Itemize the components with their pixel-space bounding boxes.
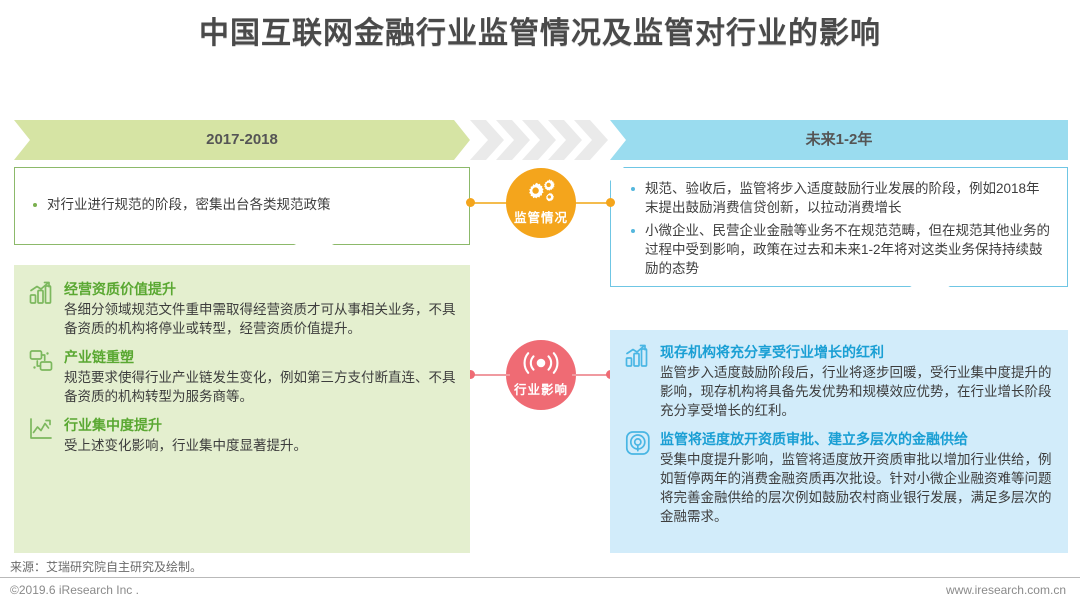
feature-body: 受上述变化影响，行业集中度显著提升。 xyxy=(64,436,458,455)
feature-block: 行业集中度提升 受上述变化影响，行业集中度显著提升。 xyxy=(18,415,458,455)
feature-block: 经营资质价值提升 各细分领域规范文件重申需取得经营资质才可从事相关业务，不具备资… xyxy=(18,279,458,338)
target-circle-icon xyxy=(624,430,652,456)
feature-body: 监管步入适度鼓励阶段后，行业将逐步回暖，受行业集中度提升的影响，现存机构将具备先… xyxy=(660,363,1054,420)
feature-block: 产业链重塑 规范要求使得行业产业链发生变化，例如第三方支付断直连、不具备资质的机… xyxy=(18,347,458,406)
connector-line-left-regulation xyxy=(470,202,510,204)
feature-block: 监管将适度放开资质审批、建立多层次的金融供给 受集中度提升影响，监管将适度放开资… xyxy=(614,429,1054,526)
feature-heading: 行业集中度提升 xyxy=(64,415,458,435)
chevron-right-icon xyxy=(470,120,504,160)
gears-icon xyxy=(506,179,576,205)
page-title: 中国互联网金融行业监管情况及监管对行业的影响 xyxy=(0,8,1080,52)
industry-impact-right-panel: 现存机构将充分享受行业增长的红利 监管步入适度鼓励阶段后，行业将逐步回暖，受行业… xyxy=(610,330,1068,553)
regulation-past-list: 对行业进行规范的阶段，密集出台各类规范政策 xyxy=(29,195,455,214)
badge-regulation[interactable]: 监管情况 xyxy=(506,168,576,238)
regulation-future-list: 规范、验收后，监管将步入适度鼓励行业发展的阶段，例如2018年末提出鼓励消费信贷… xyxy=(627,179,1051,278)
timeline-chevrons xyxy=(470,120,610,160)
connector-line-left-impact xyxy=(470,374,510,376)
badge-impact[interactable]: 行业影响 xyxy=(506,340,576,410)
supply-chain-icon xyxy=(28,348,56,374)
list-item: 规范、验收后，监管将步入适度鼓励行业发展的阶段，例如2018年末提出鼓励消费信贷… xyxy=(627,179,1051,217)
feature-body: 规范要求使得行业产业链发生变化，例如第三方支付断直连、不具备资质的机构转型为服务… xyxy=(64,368,458,406)
industry-impact-left-panel: 经营资质价值提升 各细分领域规范文件重申需取得经营资质才可从事相关业务，不具备资… xyxy=(14,265,470,553)
source-note: 来源：艾瑞研究院自主研究及绘制。 xyxy=(10,558,202,575)
timeline-banner-right: 未来1-2年 xyxy=(610,120,1068,160)
feature-block: 现存机构将充分享受行业增长的红利 监管步入适度鼓励阶段后，行业将逐步回暖，受行业… xyxy=(614,342,1054,420)
list-item: 小微企业、民营企业金融等业务不在规范范畴，但在规范其他业务的过程中受到影响，政策… xyxy=(627,221,1051,278)
badge-impact-label: 行业影响 xyxy=(506,379,576,398)
timeline-left-label: 2017-2018 xyxy=(206,131,278,148)
regulation-past-box: 对行业进行规范的阶段，密集出台各类规范政策 xyxy=(14,167,470,245)
footer-divider xyxy=(0,577,1080,578)
timeline-banner-left: 2017-2018 xyxy=(14,120,470,160)
list-item: 对行业进行规范的阶段，密集出台各类规范政策 xyxy=(29,195,455,214)
feature-heading: 监管将适度放开资质审批、建立多层次的金融供给 xyxy=(660,429,1054,449)
regulation-future-box: 规范、验收后，监管将步入适度鼓励行业发展的阶段，例如2018年末提出鼓励消费信贷… xyxy=(610,167,1068,287)
connector-node-right-regulation xyxy=(606,198,615,207)
timeline-right-label: 未来1-2年 xyxy=(806,131,873,148)
copyright-text: ©2019.6 iResearch Inc . xyxy=(10,583,139,597)
feature-heading: 经营资质价值提升 xyxy=(64,279,458,299)
line-chart-icon xyxy=(28,416,56,442)
feature-heading: 现存机构将充分享受行业增长的红利 xyxy=(660,342,1054,362)
feature-body: 各细分领域规范文件重申需取得经营资质才可从事相关业务，不具备资质的机构将停业或转… xyxy=(64,300,458,338)
broadcast-signal-icon xyxy=(506,351,576,377)
feature-body: 受集中度提升影响，监管将适度放开资质审批以增加行业供给，例如暂停两年的消费金融资… xyxy=(660,450,1054,526)
bar-chart-trend-icon xyxy=(624,343,652,369)
connector-node-left-regulation xyxy=(466,198,475,207)
feature-heading: 产业链重塑 xyxy=(64,347,458,367)
badge-regulation-label: 监管情况 xyxy=(506,207,576,226)
website-url: www.iresearch.com.cn xyxy=(946,583,1066,597)
bar-chart-up-icon xyxy=(28,280,56,306)
